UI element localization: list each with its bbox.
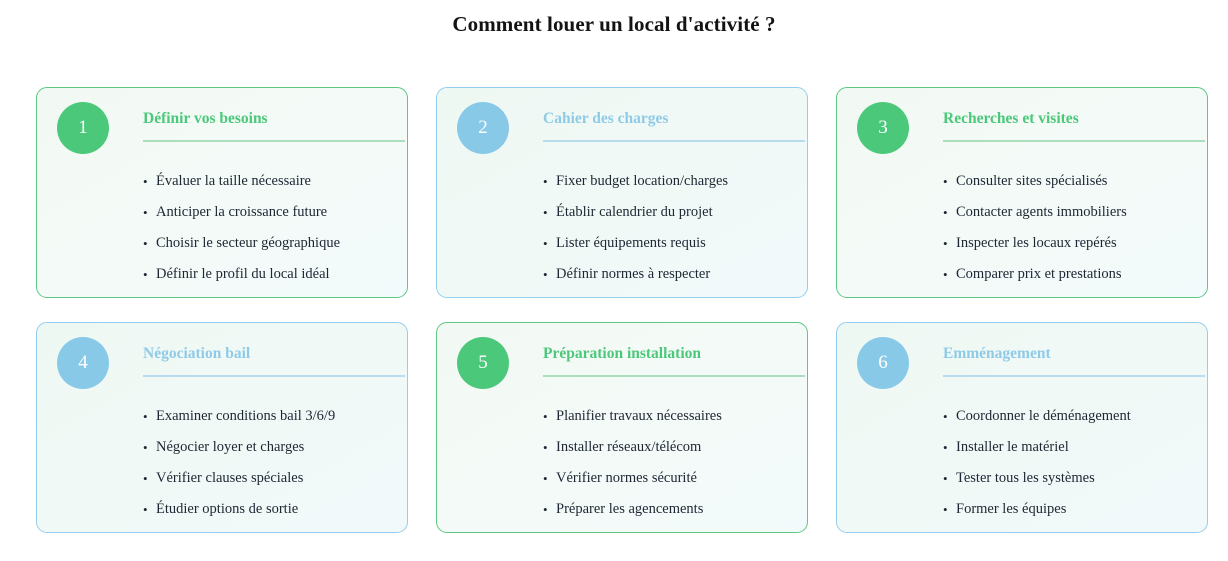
step-title-2: Cahier des charges (543, 102, 791, 136)
step-title-4: Négociation bail (143, 337, 391, 371)
step-number-badge-1: 1 (57, 102, 109, 154)
step-card-4-header: 4 Négociation bail (53, 337, 391, 399)
step-card-6-header: 6 Emménagement (853, 337, 1191, 399)
step-card-1-header: 1 Définir vos besoins (53, 102, 391, 164)
page-title: Comment louer un local d'activité ? (0, 12, 1228, 37)
list-item: Consulter sites spécialisés (943, 166, 1195, 197)
list-item: Vérifier normes sécurité (543, 463, 795, 494)
step-number-badge-3: 3 (857, 102, 909, 154)
step-item-list-6: Coordonner le déménagement Installer le … (943, 401, 1195, 525)
list-item: Planifier travaux nécessaires (543, 401, 795, 432)
title-divider-1 (143, 140, 405, 142)
step-card-1-title-block: Définir vos besoins (143, 102, 391, 142)
step-title-1: Définir vos besoins (143, 102, 391, 136)
step-card-1: 1 Définir vos besoins Évaluer la taille … (36, 87, 408, 298)
title-divider-4 (143, 375, 405, 377)
list-item: Établir calendrier du projet (543, 197, 795, 228)
infographic-page: Comment louer un local d'activité ? 1 Dé… (0, 0, 1228, 561)
step-card-5: 5 Préparation installation Planifier tra… (436, 322, 808, 533)
list-item: Étudier options de sortie (143, 494, 395, 525)
list-item: Lister équipements requis (543, 228, 795, 259)
title-divider-5 (543, 375, 805, 377)
list-item: Négocier loyer et charges (143, 432, 395, 463)
title-divider-2 (543, 140, 805, 142)
list-item: Tester tous les systèmes (943, 463, 1195, 494)
step-item-list-4: Examiner conditions bail 3/6/9 Négocier … (143, 401, 395, 525)
step-card-3: 3 Recherches et visites Consulter sites … (836, 87, 1208, 298)
step-card-4-title-block: Négociation bail (143, 337, 391, 377)
step-number-badge-6: 6 (857, 337, 909, 389)
step-item-list-2: Fixer budget location/charges Établir ca… (543, 166, 795, 290)
step-item-list-1: Évaluer la taille nécessaire Anticiper l… (143, 166, 395, 290)
list-item: Coordonner le déménagement (943, 401, 1195, 432)
list-item: Choisir le secteur géographique (143, 228, 395, 259)
list-item: Former les équipes (943, 494, 1195, 525)
step-card-5-header: 5 Préparation installation (453, 337, 791, 399)
step-card-2-title-block: Cahier des charges (543, 102, 791, 142)
step-item-list-3: Consulter sites spécialisés Contacter ag… (943, 166, 1195, 290)
steps-grid: 1 Définir vos besoins Évaluer la taille … (36, 87, 1208, 533)
step-card-3-title-block: Recherches et visites (943, 102, 1191, 142)
list-item: Inspecter les locaux repérés (943, 228, 1195, 259)
title-divider-6 (943, 375, 1205, 377)
list-item: Contacter agents immobiliers (943, 197, 1195, 228)
list-item: Installer réseaux/télécom (543, 432, 795, 463)
step-card-6: 6 Emménagement Coordonner le déménagemen… (836, 322, 1208, 533)
list-item: Fixer budget location/charges (543, 166, 795, 197)
list-item: Vérifier clauses spéciales (143, 463, 395, 494)
step-item-list-5: Planifier travaux nécessaires Installer … (543, 401, 795, 525)
step-title-5: Préparation installation (543, 337, 791, 371)
step-card-2: 2 Cahier des charges Fixer budget locati… (436, 87, 808, 298)
list-item: Examiner conditions bail 3/6/9 (143, 401, 395, 432)
list-item: Définir le profil du local idéal (143, 259, 395, 290)
list-item: Anticiper la croissance future (143, 197, 395, 228)
step-number-badge-5: 5 (457, 337, 509, 389)
step-card-4: 4 Négociation bail Examiner conditions b… (36, 322, 408, 533)
title-divider-3 (943, 140, 1205, 142)
list-item: Comparer prix et prestations (943, 259, 1195, 290)
list-item: Définir normes à respecter (543, 259, 795, 290)
step-card-6-title-block: Emménagement (943, 337, 1191, 377)
step-card-5-title-block: Préparation installation (543, 337, 791, 377)
step-title-6: Emménagement (943, 337, 1191, 371)
list-item: Installer le matériel (943, 432, 1195, 463)
step-number-badge-2: 2 (457, 102, 509, 154)
step-card-3-header: 3 Recherches et visites (853, 102, 1191, 164)
step-number-badge-4: 4 (57, 337, 109, 389)
list-item: Évaluer la taille nécessaire (143, 166, 395, 197)
step-title-3: Recherches et visites (943, 102, 1191, 136)
list-item: Préparer les agencements (543, 494, 795, 525)
step-card-2-header: 2 Cahier des charges (453, 102, 791, 164)
